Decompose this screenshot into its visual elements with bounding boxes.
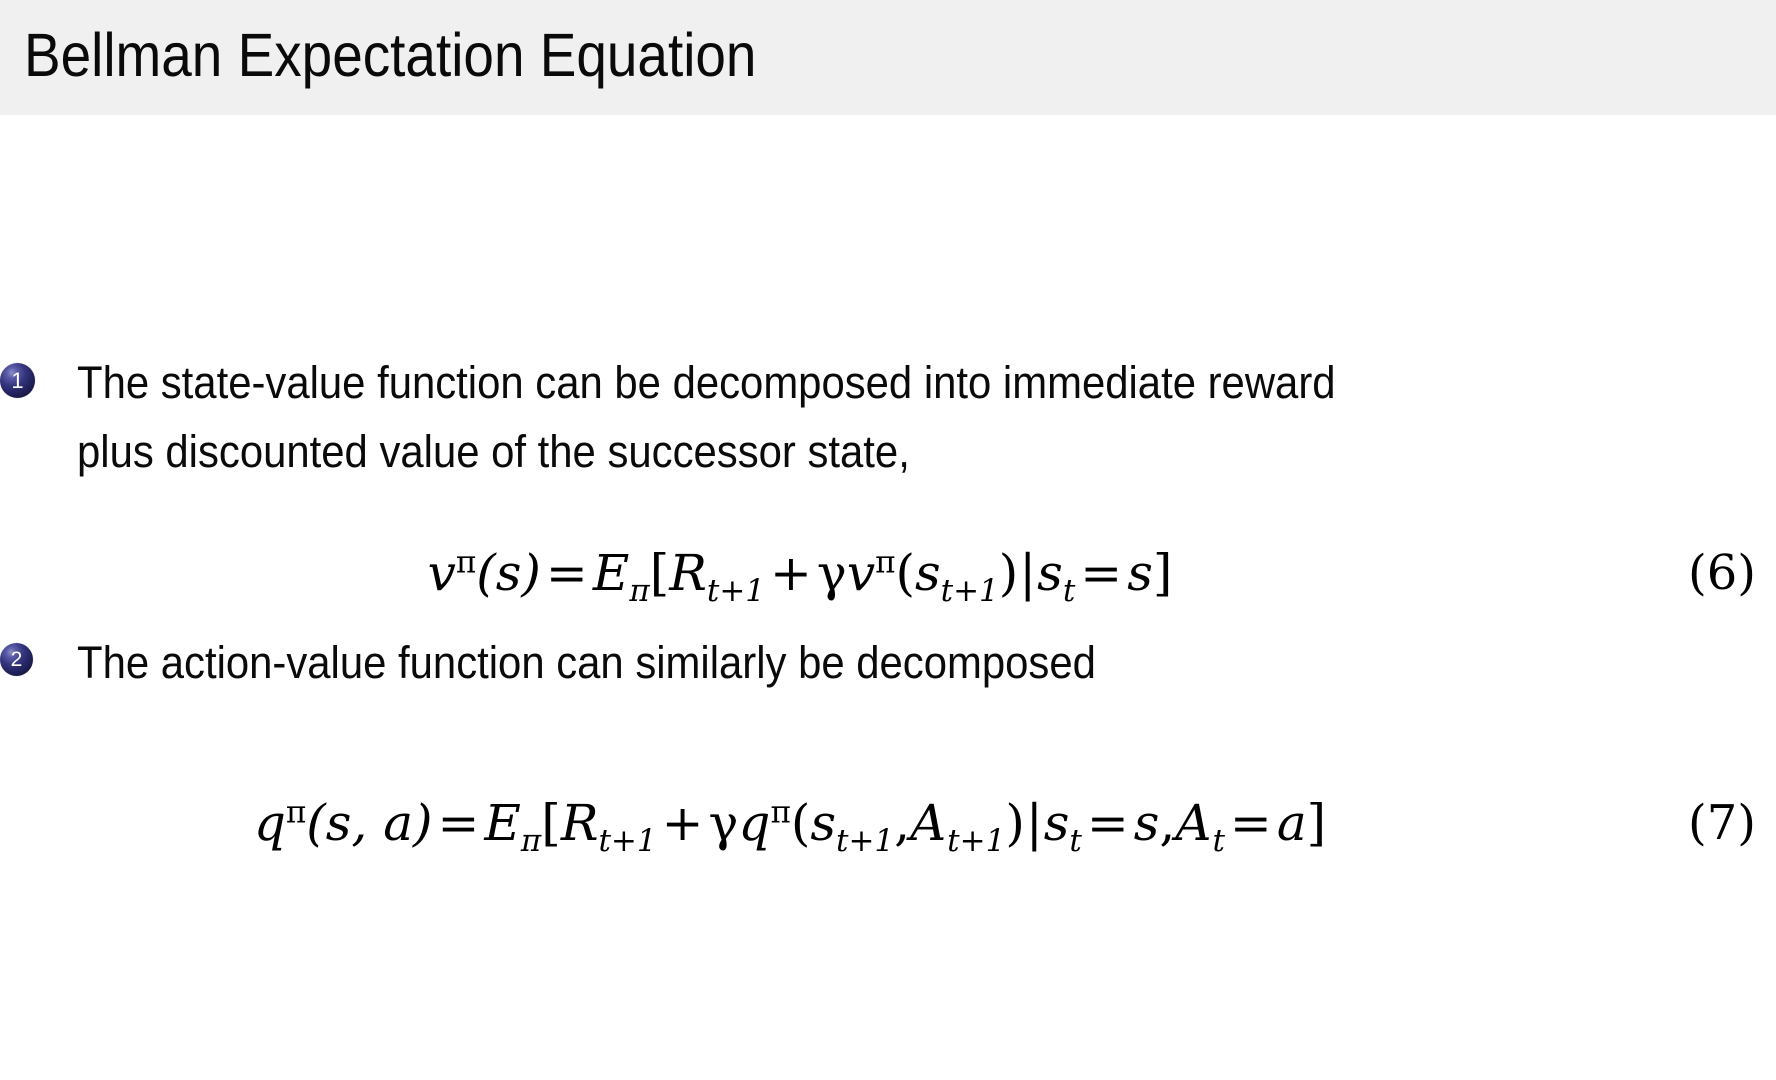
eq7-next-action: A (910, 794, 947, 852)
eq6-value-function: v (847, 544, 875, 602)
eq7-plus: + (657, 794, 709, 852)
eq7-next-state-subscript: t+1 (836, 823, 894, 859)
eq7-reward-subscript: t+1 (598, 823, 656, 859)
eq7-equals: = (433, 794, 485, 852)
eq6-expectation-subscript: π (629, 573, 649, 609)
eq6-lhs-function: v (428, 544, 456, 602)
equation-7: qπ(s, a)=Eπ[Rt+1+γqπ(st+1,At+1)|st=s,At=… (0, 780, 1640, 866)
eq6-plus: + (765, 544, 817, 602)
eq7-comma: , (894, 794, 910, 852)
eq6-equals: = (541, 544, 593, 602)
page-title: Bellman Expectation Equation (24, 18, 756, 92)
eq6-next-state: s (915, 544, 941, 602)
eq7-cond-action-subscript: t (1212, 823, 1224, 859)
eq7-cond-state-subscript: t (1069, 823, 1081, 859)
eq7-cond-action: A (1175, 794, 1212, 852)
equation-block: qπ(s, a)=Eπ[Rt+1+γqπ(st+1,At+1)|st=s,At=… (0, 780, 1776, 870)
eq7-cond-state: s (1044, 794, 1070, 852)
eq6-open-paren: ( (895, 544, 915, 602)
eq7-close-paren: ) (1005, 794, 1025, 852)
equation-block: vπ(s)=Eπ[Rt+1+γvπ(st+1)|st=s] (6) (0, 530, 1776, 620)
eq7-lhs-function: q (254, 794, 286, 852)
eq7-value-function: q (738, 794, 770, 852)
eq7-close-bracket: ] (1307, 794, 1327, 852)
eq7-lhs-superscript: π (286, 794, 306, 830)
eq6-lhs-argument: (s) (476, 544, 541, 602)
eq6-cond-state-subscript: t (1063, 573, 1075, 609)
equation-number-7: (7) (1688, 780, 1756, 866)
numbered-bullet-icon: 2 (0, 643, 33, 676)
eq6-close-bracket: ] (1153, 544, 1173, 602)
slide-content: 1 The state-value function can be decomp… (0, 115, 1776, 1080)
eq6-reward: R (669, 544, 707, 602)
eq6-cond-state: s (1037, 544, 1063, 602)
eq7-open-paren: ( (791, 794, 811, 852)
eq7-lhs-argument: (s, a) (306, 794, 432, 852)
eq6-expectation: E (593, 544, 630, 602)
eq7-value-superscript: π (770, 794, 790, 830)
slide-header-bar: Bellman Expectation Equation (0, 0, 1776, 115)
eq6-gamma: γ (817, 544, 847, 602)
eq7-cond-equals: = (1082, 794, 1134, 852)
eq7-cond-action-equals: = (1225, 794, 1277, 852)
numbered-bullet-icon: 1 (0, 363, 35, 398)
eq6-close-paren: ) (999, 544, 1019, 602)
eq6-cond-equals: = (1075, 544, 1127, 602)
eq7-reward: R (561, 794, 599, 852)
equation-number-6: (6) (1688, 530, 1756, 616)
eq6-next-state-subscript: t+1 (941, 573, 999, 609)
eq7-cond-value: s (1134, 794, 1160, 852)
eq7-expectation-subscript: π (521, 823, 541, 859)
eq6-lhs-superscript: π (456, 544, 476, 580)
eq6-cond-value: s (1127, 544, 1153, 602)
list-item-text: The action-value function can similarly … (77, 628, 1593, 697)
eq7-expectation: E (484, 794, 521, 852)
eq7-gamma: γ (709, 794, 739, 852)
eq6-value-superscript: π (875, 544, 895, 580)
eq7-open-bracket: [ (541, 794, 561, 852)
eq7-next-state: s (810, 794, 836, 852)
eq7-next-action-subscript: t+1 (947, 823, 1005, 859)
eq7-given-bar: | (1025, 794, 1044, 852)
eq7-cond-action-value: a (1277, 794, 1307, 852)
list-item-line: The state-value function can be decompos… (77, 348, 1593, 417)
list-item-text: The state-value function can be decompos… (77, 348, 1593, 486)
eq6-open-bracket: [ (650, 544, 670, 602)
eq6-reward-subscript: t+1 (707, 573, 765, 609)
list-item-line: plus discounted value of the successor s… (77, 417, 1593, 486)
eq6-given-bar: | (1018, 544, 1037, 602)
equation-6: vπ(s)=Eπ[Rt+1+γvπ(st+1)|st=s] (0, 530, 1650, 616)
list-item-line: The action-value function can similarly … (77, 628, 1593, 697)
eq7-cond-comma: , (1159, 794, 1175, 852)
